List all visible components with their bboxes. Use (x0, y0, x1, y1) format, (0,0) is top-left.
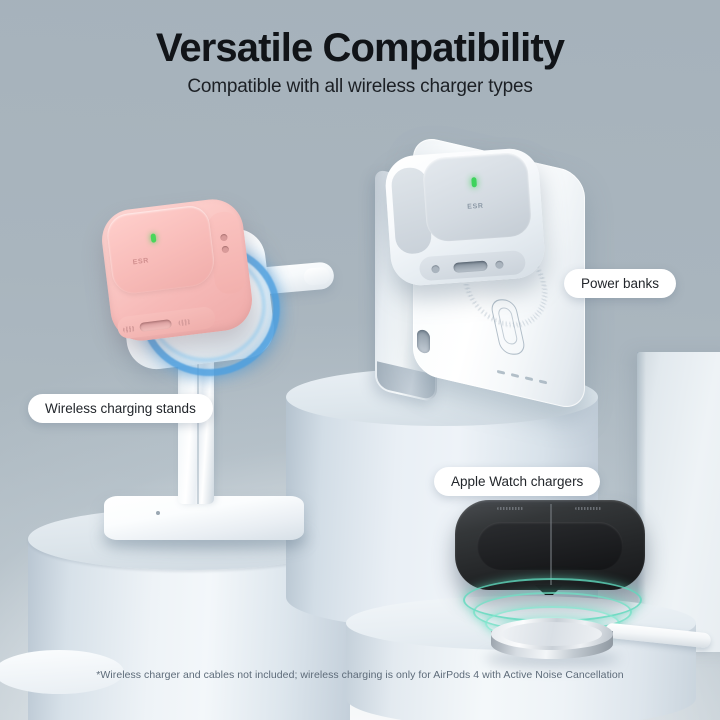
product-hero-scene: ESR ESR (0, 0, 720, 720)
product-apple-watch-charger (455, 500, 705, 660)
airpods-case-black-seam (550, 504, 552, 586)
battery-led-icon (511, 373, 519, 378)
led-indicator-icon (471, 177, 477, 187)
usb-c-port-icon (417, 328, 430, 354)
speaker-mesh-icon (497, 507, 523, 510)
puck-inner-surface (502, 622, 602, 646)
battery-led-icon (525, 376, 533, 381)
callout-wireless-charging-stands: Wireless charging stands (28, 394, 213, 423)
disclaimer-text: *Wireless charger and cables not include… (0, 669, 720, 681)
product-wireless-charging-stand: ESR (96, 196, 346, 546)
battery-led-icon (497, 369, 505, 374)
led-indicator-icon (150, 233, 156, 243)
airpods-case-black (455, 500, 645, 590)
callout-apple-watch-chargers: Apple Watch chargers (434, 467, 600, 496)
airpods-case-white-lid (422, 152, 533, 243)
brand-logo-esr: ESR (467, 203, 484, 211)
airpods-case-pink: ESR (98, 196, 255, 344)
speaker-dot-icon (220, 234, 228, 242)
page-title: Versatile Compatibility (0, 26, 720, 71)
page-subtitle: Compatible with all wireless charger typ… (0, 76, 720, 98)
airpods-case-white: ESR (384, 147, 547, 287)
charging-cable (605, 623, 712, 649)
battery-led-icon (539, 379, 547, 384)
speaker-dot-icon (221, 246, 229, 254)
apple-watch-charging-puck (491, 618, 613, 662)
airpods-case-pink-lid (105, 204, 217, 296)
callout-power-banks: Power banks (564, 269, 676, 298)
speaker-mesh-icon (575, 507, 601, 510)
